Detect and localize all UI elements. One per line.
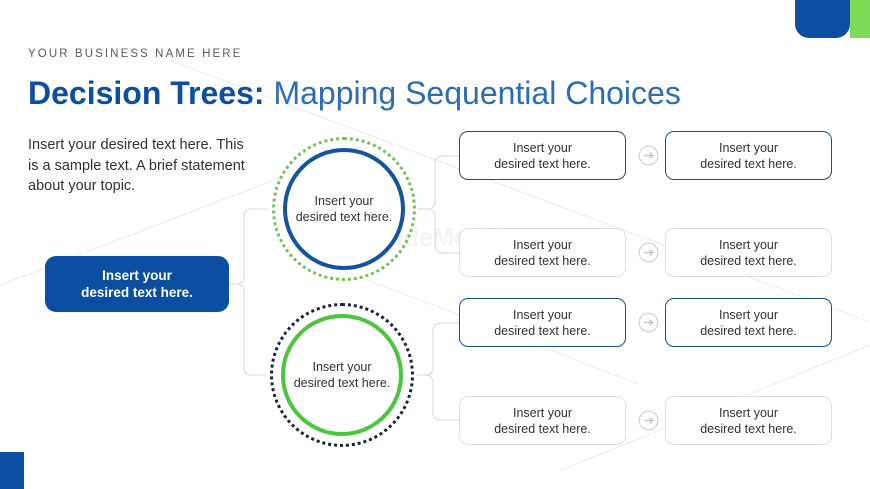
page-title: Decision Trees: Mapping Sequential Choic…: [28, 75, 681, 112]
outcome-card-row3-right[interactable]: Insert your desired text here.: [665, 298, 832, 347]
outcome-card-row4-left-label: Insert your desired text here.: [494, 405, 591, 437]
intro-paragraph: Insert your desired text here. This is a…: [28, 135, 253, 197]
top-right-corner-decoration: [795, 0, 870, 38]
outcome-card-row1-left-line2: desired text here.: [494, 157, 591, 171]
page-title-strong: Decision Trees:: [28, 75, 265, 111]
arrow-right-circle-icon-row2: [638, 242, 659, 263]
outcome-card-row3-right-line1: Insert your: [719, 308, 778, 322]
outcome-card-row1-left-label: Insert your desired text here.: [494, 140, 591, 172]
outcome-card-row3-left[interactable]: Insert your desired text here.: [459, 298, 626, 347]
outcome-card-row4-left-line1: Insert your: [513, 406, 572, 420]
outcome-card-row2-left-line2: desired text here.: [494, 254, 591, 268]
outcome-card-row2-left-label: Insert your desired text here.: [494, 237, 591, 269]
outcome-card-row1-right-line2: desired text here.: [700, 157, 797, 171]
outcome-card-row4-right-line2: desired text here.: [700, 422, 797, 436]
outcome-card-row2-right[interactable]: Insert your desired text here.: [665, 228, 832, 277]
arrow-right-circle-icon-row4: [638, 410, 659, 431]
branch-bottom-label: Insert your desired text here.: [281, 314, 403, 436]
outcome-card-row2-left-line1: Insert your: [513, 238, 572, 252]
outcome-card-row1-right-line1: Insert your: [719, 141, 778, 155]
root-node-line2: desired text here.: [81, 285, 193, 300]
outcome-card-row3-left-label: Insert your desired text here.: [494, 307, 591, 339]
outcome-card-row4-right-label: Insert your desired text here.: [700, 405, 797, 437]
branch-node-bottom[interactable]: Insert your desired text here.: [270, 303, 414, 447]
branch-top-line1: Insert your: [314, 194, 373, 208]
root-node-line1: Insert your: [102, 268, 172, 283]
bottom-left-corner-decoration: [0, 452, 24, 489]
root-node-label: Insert your desired text here.: [81, 267, 193, 301]
outcome-card-row2-right-label: Insert your desired text here.: [700, 237, 797, 269]
slide-canvas: YOUR BUSINESS NAME HERE Decision Trees: …: [0, 0, 870, 489]
outcome-card-row1-left-line1: Insert your: [513, 141, 572, 155]
arrow-right-circle-icon-row1: [638, 145, 659, 166]
outcome-card-row1-right-label: Insert your desired text here.: [700, 140, 797, 172]
outcome-card-row3-right-label: Insert your desired text here.: [700, 307, 797, 339]
outcome-card-row4-left[interactable]: Insert your desired text here.: [459, 396, 626, 445]
outcome-card-row3-left-line1: Insert your: [513, 308, 572, 322]
outcome-card-row2-right-line2: desired text here.: [700, 254, 797, 268]
outcome-card-row3-left-line2: desired text here.: [494, 324, 591, 338]
root-node[interactable]: Insert your desired text here.: [45, 256, 229, 312]
branch-node-top[interactable]: Insert your desired text here.: [272, 137, 416, 281]
page-title-rest: Mapping Sequential Choices: [265, 75, 681, 111]
corner-green-shape: [850, 0, 870, 38]
branch-bottom-line2: desired text here.: [294, 376, 391, 390]
outcome-card-row2-left[interactable]: Insert your desired text here.: [459, 228, 626, 277]
outcome-card-row1-left[interactable]: Insert your desired text here.: [459, 131, 626, 180]
corner-blue-shape: [795, 0, 850, 38]
arrow-right-circle-icon-row3: [638, 312, 659, 333]
outcome-card-row4-right[interactable]: Insert your desired text here.: [665, 396, 832, 445]
outcome-card-row4-right-line1: Insert your: [719, 406, 778, 420]
outcome-card-row3-right-line2: desired text here.: [700, 324, 797, 338]
outcome-card-row2-right-line1: Insert your: [719, 238, 778, 252]
branch-top-label: Insert your desired text here.: [283, 148, 405, 270]
eyebrow-text: YOUR BUSINESS NAME HERE: [28, 48, 242, 60]
outcome-card-row1-right[interactable]: Insert your desired text here.: [665, 131, 832, 180]
branch-bottom-line1: Insert your: [312, 360, 371, 374]
outcome-card-row4-left-line2: desired text here.: [494, 422, 591, 436]
branch-top-line2: desired text here.: [296, 210, 393, 224]
